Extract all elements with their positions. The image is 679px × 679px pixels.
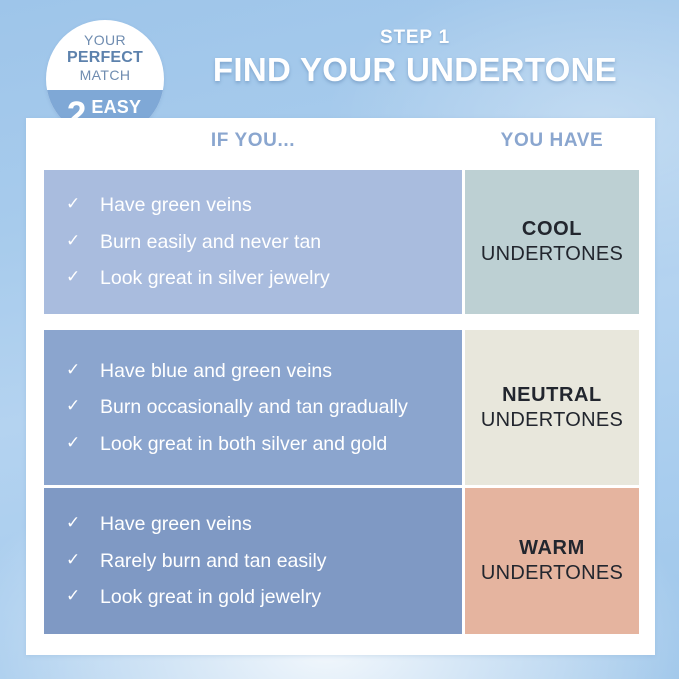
table-row: ✓ Have green veins ✓ Rarely burn and tan… bbox=[26, 488, 655, 634]
table-row: ✓ Have green veins ✓ Burn easily and nev… bbox=[26, 170, 655, 314]
criteria-text: Rarely burn and tan easily bbox=[100, 549, 446, 574]
undertone-swatch-warm: WARM UNDERTONES bbox=[465, 488, 639, 634]
undertone-swatch-neutral: NEUTRAL UNDERTONES bbox=[465, 330, 639, 485]
criteria-text: Burn occasionally and tan gradually bbox=[100, 395, 446, 420]
check-icon: ✓ bbox=[66, 193, 100, 216]
undertone-table-card: IF YOU... YOU HAVE ✓ Have green veins ✓ … bbox=[26, 118, 655, 655]
criteria-text: Look great in gold jewelry bbox=[100, 585, 446, 610]
list-item: ✓ Have blue and green veins bbox=[66, 353, 446, 390]
column-header-result: YOU HAVE bbox=[465, 130, 639, 152]
badge-your-label: YOUR bbox=[46, 32, 164, 49]
undertone-name: NEUTRAL bbox=[502, 383, 602, 408]
list-item: ✓ Look great in both silver and gold bbox=[66, 426, 446, 463]
criteria-text: Have green veins bbox=[100, 512, 446, 537]
criteria-panel-warm: ✓ Have green veins ✓ Rarely burn and tan… bbox=[44, 488, 462, 634]
criteria-text: Look great in both silver and gold bbox=[100, 432, 446, 457]
header: STEP 1 FIND YOUR UNDERTONE bbox=[180, 28, 650, 90]
list-item: ✓ Burn easily and never tan bbox=[66, 224, 446, 261]
badge-top-text: YOUR PERFECT MATCH bbox=[46, 32, 164, 84]
criteria-text: Have green veins bbox=[100, 193, 446, 218]
undertone-name: COOL bbox=[522, 217, 582, 242]
badge-perfect-label: PERFECT bbox=[46, 49, 164, 68]
criteria-text: Look great in silver jewelry bbox=[100, 266, 446, 291]
step-label: STEP 1 bbox=[180, 28, 650, 49]
check-icon: ✓ bbox=[66, 359, 100, 382]
criteria-text: Have blue and green veins bbox=[100, 359, 446, 384]
check-icon: ✓ bbox=[66, 549, 100, 572]
list-item: ✓ Rarely burn and tan easily bbox=[66, 543, 446, 580]
page-title: FIND YOUR UNDERTONE bbox=[180, 51, 650, 90]
table-row: ✓ Have blue and green veins ✓ Burn occas… bbox=[26, 330, 655, 485]
infographic-canvas: YOUR PERFECT MATCH 2 EASY STEPS STEP 1 F… bbox=[0, 0, 679, 679]
column-headers: IF YOU... YOU HAVE bbox=[26, 130, 655, 164]
check-icon: ✓ bbox=[66, 230, 100, 253]
badge-match-label: MATCH bbox=[46, 67, 164, 84]
undertone-swatch-cool: COOL UNDERTONES bbox=[465, 170, 639, 314]
check-icon: ✓ bbox=[66, 395, 100, 418]
list-item: ✓ Have green veins bbox=[66, 506, 446, 543]
check-icon: ✓ bbox=[66, 512, 100, 535]
undertone-name: WARM bbox=[519, 536, 585, 561]
column-header-criteria: IF YOU... bbox=[44, 130, 462, 152]
list-item: ✓ Look great in gold jewelry bbox=[66, 579, 446, 616]
check-icon: ✓ bbox=[66, 266, 100, 289]
badge-easy-label: EASY bbox=[91, 98, 143, 116]
list-item: ✓ Burn occasionally and tan gradually bbox=[66, 389, 446, 426]
criteria-panel-neutral: ✓ Have blue and green veins ✓ Burn occas… bbox=[44, 330, 462, 485]
list-item: ✓ Have green veins bbox=[66, 187, 446, 224]
undertone-sublabel: UNDERTONES bbox=[481, 408, 623, 433]
check-icon: ✓ bbox=[66, 432, 100, 455]
check-icon: ✓ bbox=[66, 585, 100, 608]
undertone-sublabel: UNDERTONES bbox=[481, 561, 623, 586]
criteria-panel-cool: ✓ Have green veins ✓ Burn easily and nev… bbox=[44, 170, 462, 314]
criteria-text: Burn easily and never tan bbox=[100, 230, 446, 255]
undertone-sublabel: UNDERTONES bbox=[481, 242, 623, 267]
list-item: ✓ Look great in silver jewelry bbox=[66, 260, 446, 297]
